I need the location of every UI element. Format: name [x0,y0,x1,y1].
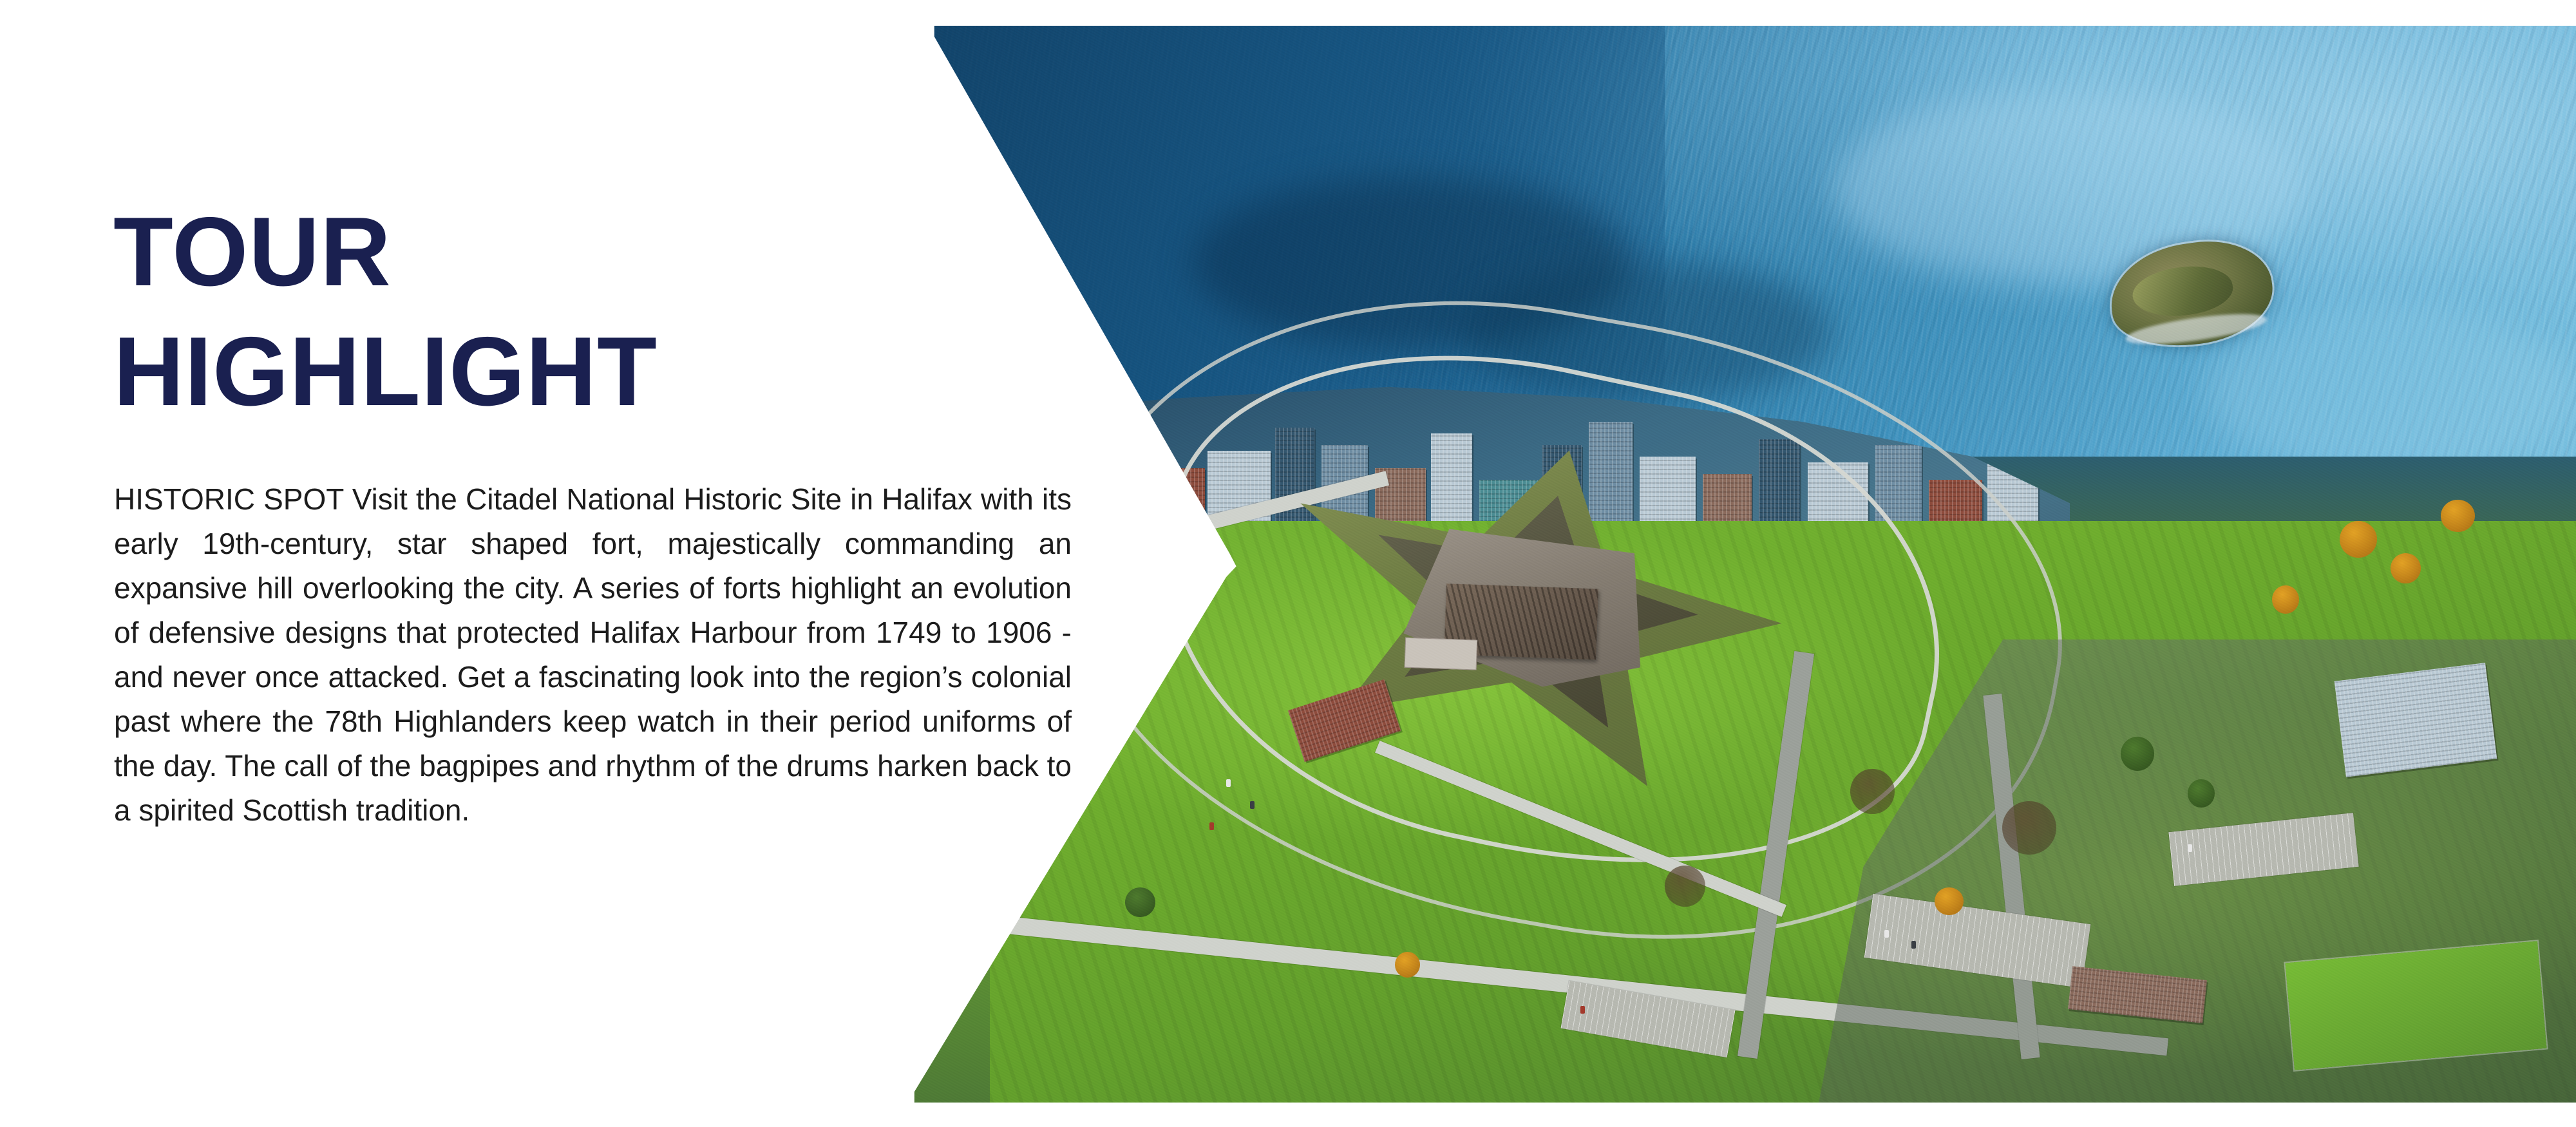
bare-tree [2002,801,2056,855]
tree [2188,779,2215,807]
citadel-aerial-photo [889,26,2576,1103]
vehicle [1580,1006,1585,1014]
sports-field [2285,941,2546,1070]
bare-tree [1850,769,1894,814]
vehicle [1884,930,1889,938]
photo-canvas [889,26,2576,1103]
tour-highlight-banner: TOUR HIGHLIGHT HISTORIC SPOT Visit the C… [0,0,2576,1127]
vehicle [1911,941,1916,949]
vehicle [1209,822,1214,830]
page-title: TOUR HIGHLIGHT [113,192,1079,431]
building [1098,439,1142,567]
vehicle [1226,779,1231,787]
vehicle [2188,844,2192,852]
autumn-tree [2272,585,2299,613]
autumn-tree [2340,521,2377,558]
autumn-tree [2441,500,2474,532]
water-highlight-patch [2205,306,2576,478]
highlight-description: HISTORIC SPOT Visit the Citadel National… [114,477,1072,833]
tree [1125,887,1155,918]
fort-outbuilding-roof [1404,638,1477,670]
autumn-tree [1395,952,1420,978]
autumn-tree [2391,553,2421,583]
vehicle [1250,801,1255,809]
bare-tree [1665,866,1705,907]
building [2334,663,2497,777]
tree [2121,737,2154,772]
autumn-tree [1935,887,1964,915]
